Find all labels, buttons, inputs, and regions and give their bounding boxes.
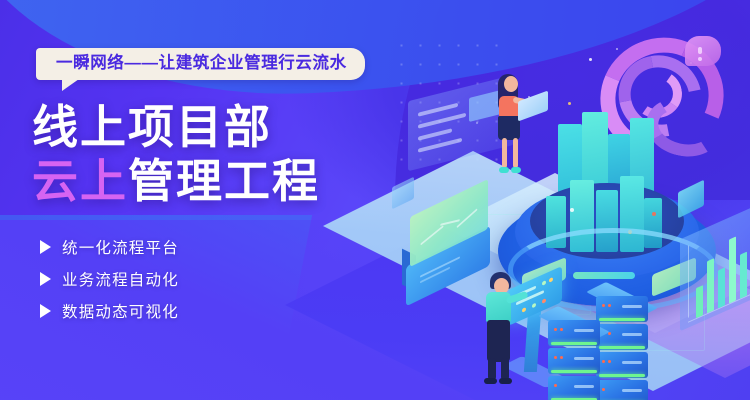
chat-bubble-shape bbox=[685, 36, 721, 66]
list-item-label: 数据动态可视化 bbox=[62, 300, 179, 322]
chart-bar bbox=[729, 236, 736, 303]
headline-block: 线上项目部 云上管理工程 bbox=[32, 100, 320, 208]
woman-leg bbox=[502, 138, 507, 168]
triangle-right-icon bbox=[40, 240, 51, 254]
list-item: 数据动态可视化 bbox=[40, 300, 179, 322]
woman-head bbox=[504, 76, 518, 92]
woman-shoe bbox=[499, 167, 509, 173]
bubble-dot bbox=[698, 57, 702, 61]
tagline-bubble: 一瞬网络——让建筑企业管理行云流水 bbox=[36, 48, 365, 80]
sparkle-dot bbox=[570, 208, 574, 212]
man-shoe bbox=[484, 378, 497, 384]
headline-line-2-text: 管理工程 bbox=[128, 155, 320, 207]
man-pants bbox=[487, 320, 510, 362]
chart-bar bbox=[707, 258, 714, 313]
triangle-right-icon bbox=[40, 272, 51, 286]
tagline-bubble-body: 一瞬网络——让建筑企业管理行云流水 bbox=[36, 48, 365, 80]
headline-line-1-text: 线上项目部 bbox=[32, 101, 272, 153]
chart-bar bbox=[740, 252, 747, 299]
chart-bar bbox=[718, 267, 725, 308]
man-leg bbox=[501, 358, 509, 380]
headline-line-2: 云上管理工程 bbox=[32, 154, 320, 208]
podium-light-bar bbox=[573, 272, 635, 279]
chart-bar bbox=[696, 285, 703, 318]
headline-accent-text: 云上 bbox=[32, 155, 128, 207]
woman-shoe bbox=[511, 167, 521, 173]
woman-leg bbox=[513, 138, 518, 168]
list-item-label: 业务流程自动化 bbox=[62, 268, 179, 290]
list-item-label: 统一化流程平台 bbox=[62, 236, 179, 258]
bubble-dot bbox=[698, 47, 702, 54]
man-shoe bbox=[499, 378, 512, 384]
list-item: 业务流程自动化 bbox=[40, 268, 179, 290]
list-item: 统一化流程平台 bbox=[40, 236, 179, 258]
man-leg bbox=[488, 358, 496, 380]
tagline-text: 一瞬网络——让建筑企业管理行云流水 bbox=[56, 55, 347, 72]
sparkle-dot bbox=[652, 212, 656, 216]
feature-list: 统一化流程平台 业务流程自动化 数据动态可视化 bbox=[40, 236, 179, 332]
triangle-right-icon bbox=[40, 304, 51, 318]
isometric-illustration bbox=[380, 0, 750, 400]
woman-tablet bbox=[518, 91, 548, 122]
woman-skirt bbox=[498, 116, 520, 140]
promo-banner: 一瞬网络——让建筑企业管理行云流水 线上项目部 云上管理工程 统一化流程平台 业… bbox=[0, 0, 750, 400]
tagline-bubble-tail bbox=[62, 79, 79, 91]
headline-line-1: 线上项目部 bbox=[32, 100, 320, 154]
